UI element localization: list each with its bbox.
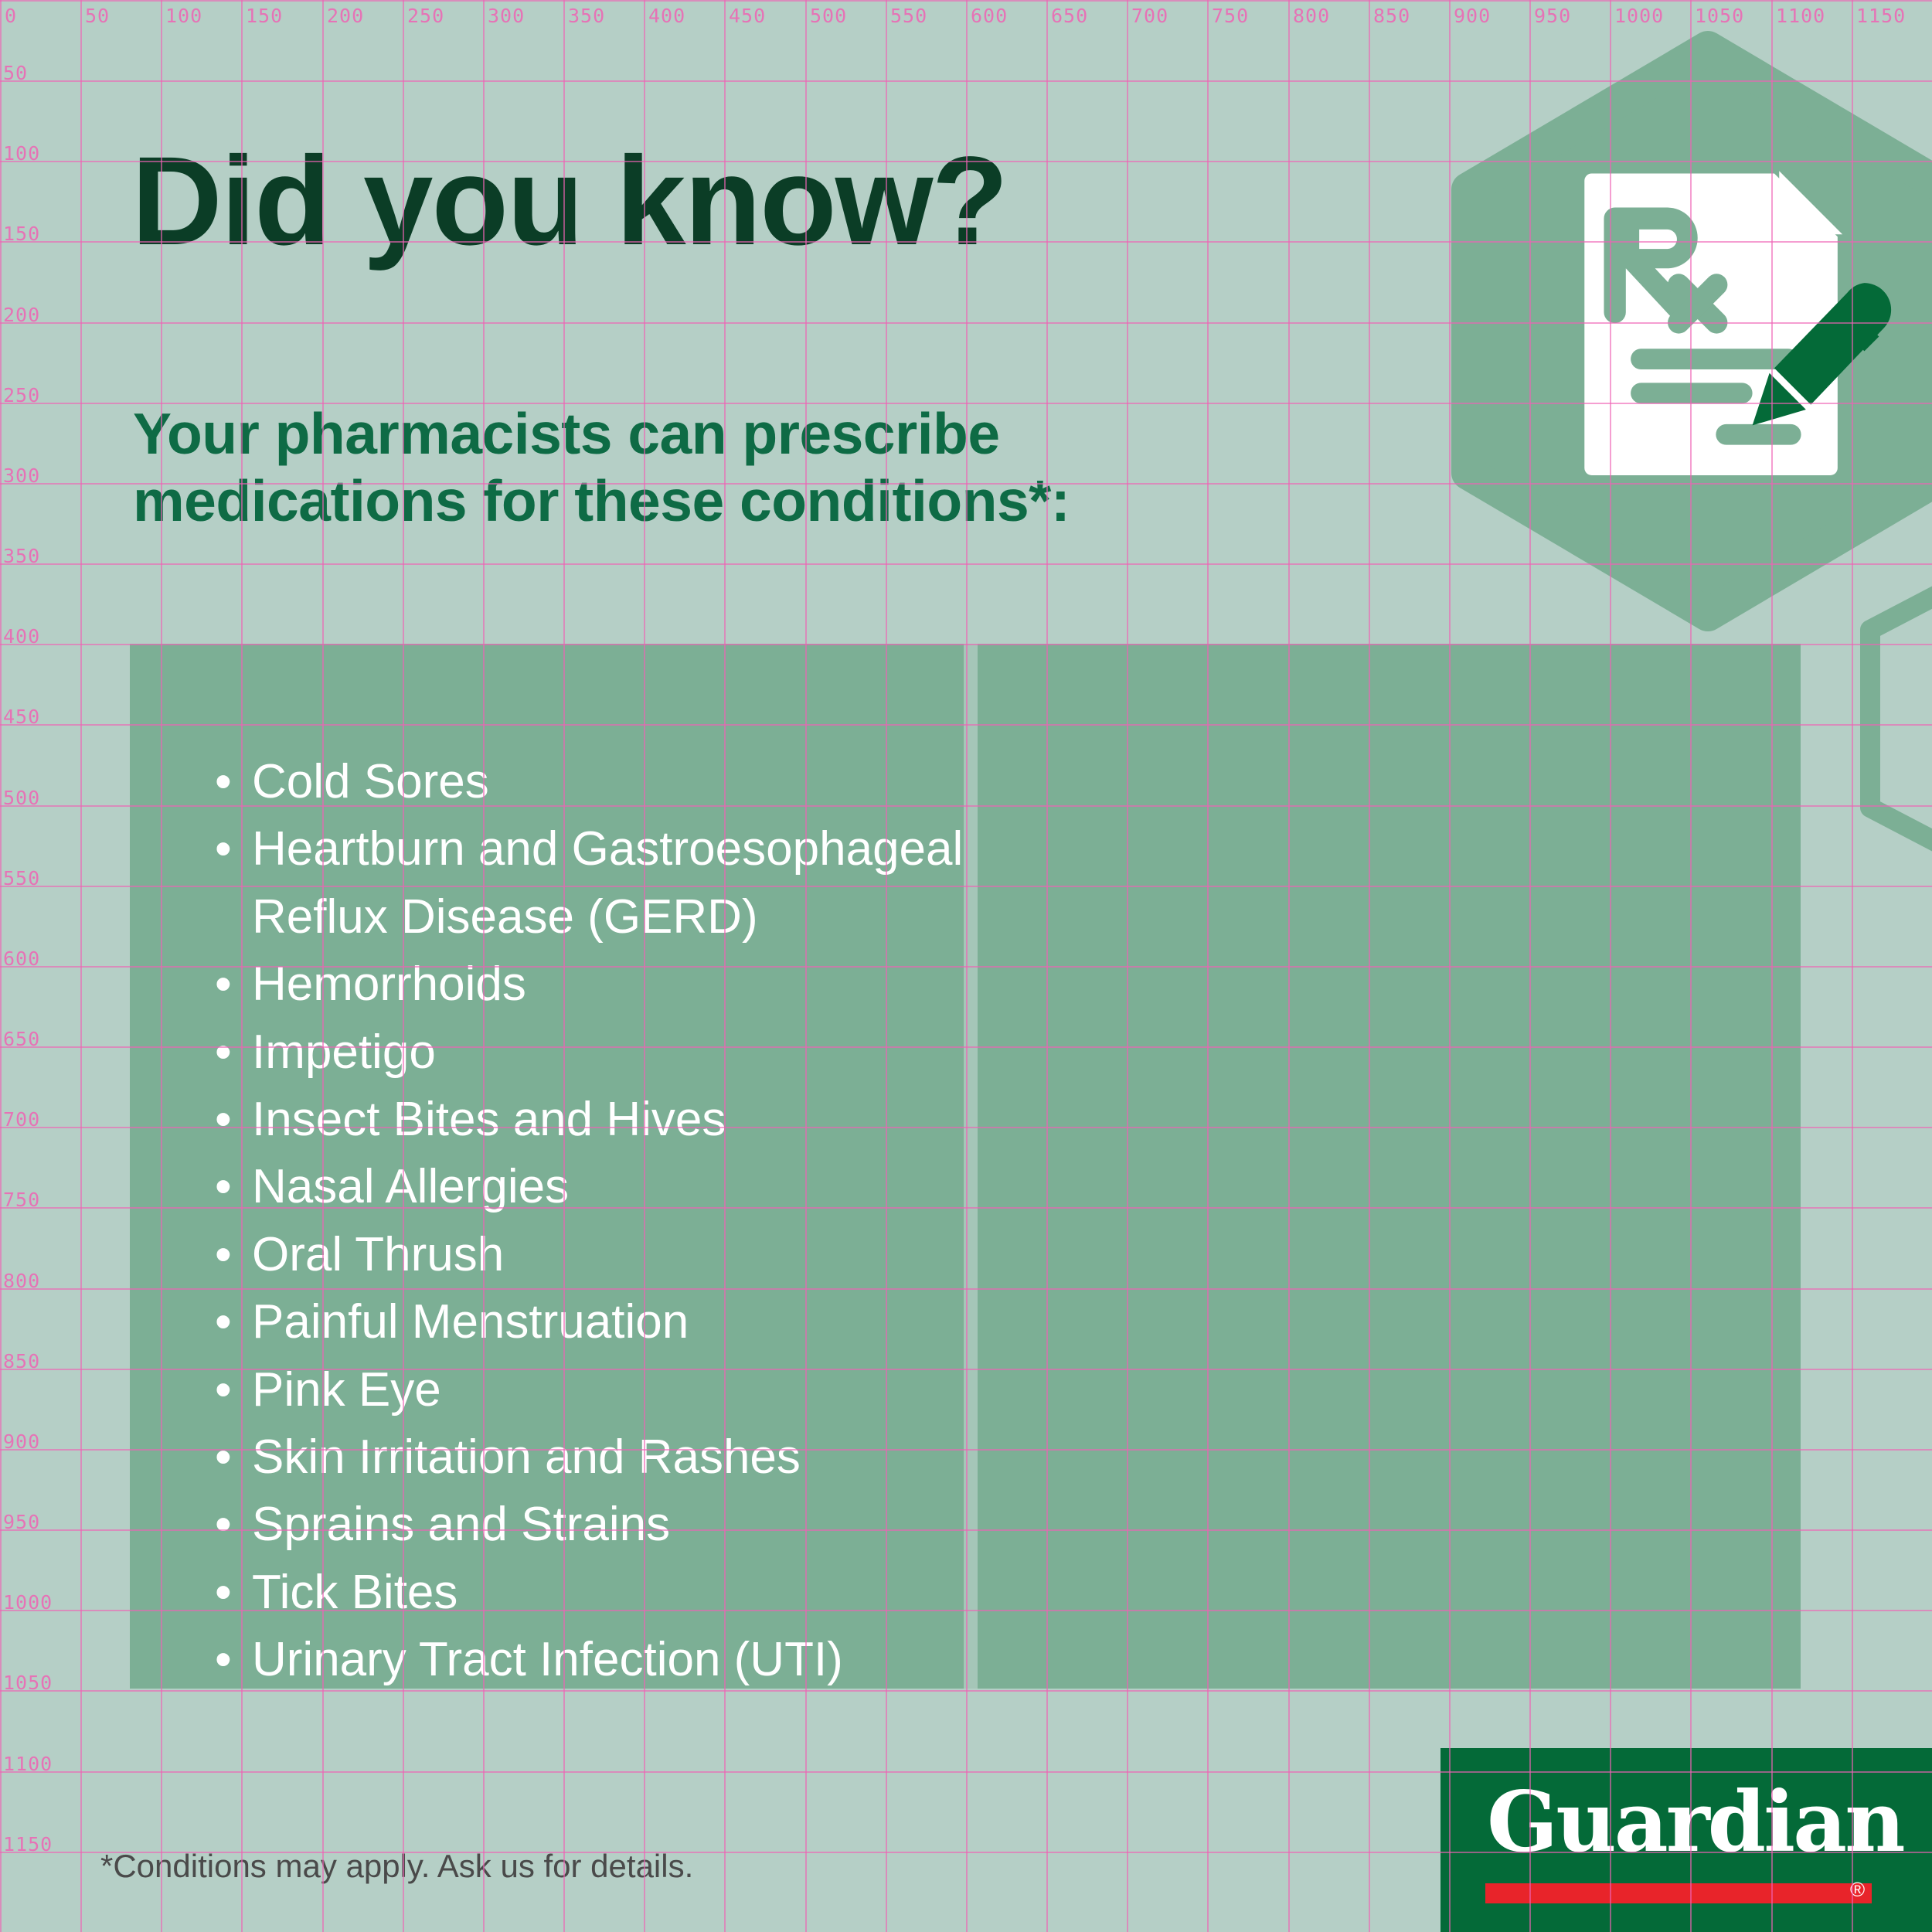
grid-label-y: 500 <box>3 788 40 808</box>
grid-label-y: 100 <box>3 144 40 163</box>
condition-list-item: Heartburn and Gastroesophageal Reflux Di… <box>215 815 988 951</box>
grid-label-y: 750 <box>3 1190 40 1209</box>
condition-list-item: Impetigo <box>215 1019 988 1086</box>
grid-label-x: 550 <box>890 6 927 26</box>
grid-label-x: 350 <box>568 6 605 26</box>
condition-list-item: Nasal Allergies <box>215 1153 988 1220</box>
grid-label-x: 200 <box>327 6 364 26</box>
grid-line-vertical <box>0 0 2 1932</box>
conditions-list: Cold SoresHeartburn and Gastroesophageal… <box>215 748 988 1694</box>
condition-list-item: Tick Bites <box>215 1559 988 1626</box>
grid-line-horizontal <box>0 0 1932 2</box>
grid-label-x: 400 <box>648 6 685 26</box>
grid-label-x: 300 <box>488 6 525 26</box>
grid-label-y: 150 <box>3 224 40 243</box>
grid-label-x: 500 <box>810 6 847 26</box>
grid-label-y: 1050 <box>3 1673 53 1692</box>
grid-label-x: 850 <box>1373 6 1410 26</box>
grid-label-y: 650 <box>3 1029 40 1049</box>
guardian-red-rule <box>1485 1883 1872 1903</box>
grid-label-x: 450 <box>729 6 766 26</box>
grid-label-x: 1150 <box>1856 6 1906 26</box>
grid-label-x: 250 <box>407 6 444 26</box>
grid-label-y: 1000 <box>3 1593 53 1612</box>
poster-canvas: Did you know? Your pharmacists can presc… <box>0 0 1932 1932</box>
grid-line-horizontal <box>0 563 1932 565</box>
grid-label-y: 950 <box>3 1512 40 1532</box>
grid-label-y: 400 <box>3 627 40 646</box>
grid-label-x: 1000 <box>1614 6 1664 26</box>
grid-label-y: 800 <box>3 1271 40 1291</box>
grid-label-x: 600 <box>971 6 1008 26</box>
grid-line-vertical <box>80 0 82 1932</box>
document-line-1 <box>1631 349 1798 369</box>
grid-label-x: 1100 <box>1776 6 1825 26</box>
condition-list-item: Painful Menstruation <box>215 1288 988 1355</box>
grid-label-y: 200 <box>3 305 40 325</box>
document-folded-corner <box>1779 171 1842 234</box>
grid-label-y: 1150 <box>3 1835 53 1854</box>
condition-list-item: Hemorrhoids <box>215 951 988 1018</box>
prescription-rx-icon <box>1584 166 1901 475</box>
grid-label-x: 700 <box>1131 6 1168 26</box>
grid-label-y: 900 <box>3 1432 40 1451</box>
grid-label-y: 700 <box>3 1110 40 1129</box>
grid-label-x: 950 <box>1534 6 1571 26</box>
grid-label-x: 750 <box>1212 6 1249 26</box>
footnote: *Conditions may apply. Ask us for detail… <box>100 1847 693 1886</box>
grid-label-y: 850 <box>3 1352 40 1371</box>
grid-label-y: 250 <box>3 386 40 405</box>
subheadline: Your pharmacists can prescribe medicatio… <box>133 400 1292 535</box>
condition-list-item: Insect Bites and Hives <box>215 1086 988 1153</box>
grid-label-x: 650 <box>1051 6 1088 26</box>
grid-label-x: 1050 <box>1695 6 1744 26</box>
grid-label-x: 100 <box>165 6 202 26</box>
registered-trademark-icon: ® <box>1850 1879 1865 1900</box>
guardian-wordmark: Guardian <box>1487 1781 1903 1864</box>
condition-list-item: Sprains and Strains <box>215 1491 988 1558</box>
grid-label-y: 50 <box>3 63 28 83</box>
condition-list-item: Oral Thrush <box>215 1221 988 1288</box>
grid-label-y: 1100 <box>3 1754 53 1774</box>
guardian-logo: Guardian ® <box>1440 1748 1932 1932</box>
grid-label-y: 550 <box>3 869 40 888</box>
grid-label-x: 900 <box>1454 6 1491 26</box>
grid-label-y: 0 <box>3 0 15 2</box>
condition-list-item: Skin Irritation and Rashes <box>215 1423 988 1491</box>
grid-label-y: 450 <box>3 707 40 726</box>
document-line-2 <box>1631 383 1752 403</box>
grid-label-x: 50 <box>85 6 110 26</box>
hexagon-outline-shape <box>1870 541 1932 896</box>
grid-label-x: 800 <box>1293 6 1330 26</box>
condition-list-item: Pink Eye <box>215 1356 988 1423</box>
document-line-3 <box>1716 424 1801 445</box>
grid-label-x: 150 <box>246 6 283 26</box>
headline: Did you know? <box>131 138 1007 264</box>
grid-label-y: 600 <box>3 949 40 968</box>
grid-label-y: 300 <box>3 466 40 485</box>
grid-label-y: 350 <box>3 546 40 566</box>
grid-label-x: 0 <box>5 6 17 26</box>
grid-line-horizontal <box>0 80 1932 82</box>
condition-list-item: Cold Sores <box>215 748 988 815</box>
condition-list-item: Urinary Tract Infection (UTI) <box>215 1626 988 1693</box>
